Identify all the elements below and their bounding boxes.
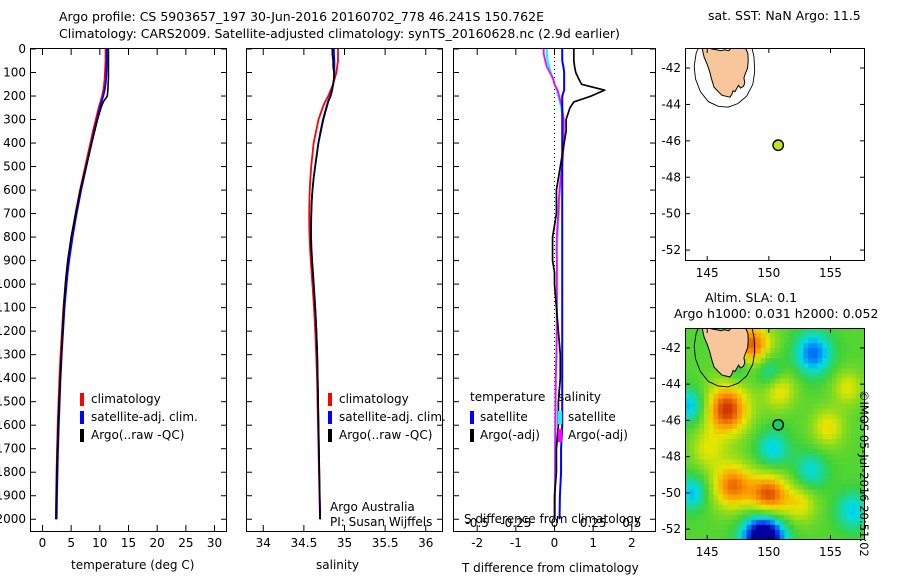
sla-cell — [756, 394, 761, 400]
sla-cell — [818, 490, 823, 496]
sla-cell — [813, 530, 818, 536]
tick-label: 20 — [150, 536, 165, 550]
sla-cell — [770, 474, 775, 480]
sla-cell — [780, 464, 785, 470]
sla-cell — [713, 520, 718, 526]
sla-cell — [713, 515, 718, 521]
sla-cell — [846, 484, 851, 490]
sla-cell — [770, 389, 775, 395]
sla-cell — [789, 515, 794, 521]
sla-cell — [770, 515, 775, 521]
sla-cell — [813, 333, 818, 339]
sla-cell — [841, 353, 846, 359]
sla-cell — [709, 464, 714, 470]
sla-cell — [827, 500, 832, 506]
sla-cell — [732, 373, 737, 379]
sla-cell — [846, 525, 851, 531]
sla-cell — [808, 363, 813, 369]
sla-cell — [723, 505, 728, 511]
sla-cell — [837, 338, 842, 344]
sla-cell — [704, 384, 709, 390]
sla-cell — [841, 469, 846, 475]
sla-cell — [784, 479, 789, 485]
sla-cell — [846, 389, 851, 395]
sla-cell — [713, 373, 718, 379]
sla-cell — [851, 490, 856, 496]
sla-cell — [846, 449, 851, 455]
sla-cell — [822, 439, 827, 445]
sla-cell — [841, 394, 846, 400]
sla-cell — [690, 525, 695, 531]
sla-cell — [775, 389, 780, 395]
sla-cell — [742, 520, 747, 526]
sla-cell — [694, 515, 699, 521]
sla-cell — [761, 479, 766, 485]
sla-cell — [856, 363, 861, 369]
sla-cell — [770, 333, 775, 339]
sla-cell — [846, 343, 851, 349]
sla-cell — [690, 515, 695, 521]
sla-cell — [789, 424, 794, 430]
sla-cell — [751, 479, 756, 485]
sla-cell — [808, 520, 813, 526]
profile-location-marker[interactable] — [773, 140, 783, 150]
sla-cell — [756, 454, 761, 460]
sla-cell — [761, 353, 766, 359]
sla-cell — [818, 368, 823, 374]
sla-cell — [837, 500, 842, 506]
legend-swatch-satellite-clim — [80, 411, 84, 424]
sla-cell — [827, 454, 832, 460]
sla-cell — [775, 368, 780, 374]
sla-cell — [775, 384, 780, 390]
sla-cell — [803, 358, 808, 364]
sla-cell — [699, 479, 704, 485]
sla-cell — [694, 459, 699, 465]
sla-cell — [694, 484, 699, 490]
sla-cell — [756, 424, 761, 430]
sla-cell — [751, 530, 756, 536]
sla-cell — [789, 429, 794, 435]
sla-cell — [766, 474, 771, 480]
sla-cell — [813, 409, 818, 415]
sla-cell — [837, 378, 842, 384]
sla-cell — [690, 404, 695, 410]
sla-cell — [780, 469, 785, 475]
sla-cell — [751, 373, 756, 379]
sla-cell — [732, 479, 737, 485]
sla-cell — [704, 520, 709, 526]
sla-cell — [794, 399, 799, 405]
sla-cell — [704, 434, 709, 440]
sla-cell — [822, 434, 827, 440]
sla-cell — [822, 505, 827, 511]
sla-cell — [784, 399, 789, 405]
sla-cell — [832, 459, 837, 465]
sla-cell — [789, 510, 794, 516]
sla-cell — [841, 373, 846, 379]
sla-cell — [799, 449, 804, 455]
sla-cell — [832, 353, 837, 359]
sla-cell — [756, 414, 761, 420]
sla-cell — [818, 495, 823, 501]
sla-cell — [851, 459, 856, 465]
sla-cell — [751, 454, 756, 460]
sla-cell — [766, 434, 771, 440]
sla-cell — [766, 389, 771, 395]
sla-cell — [822, 399, 827, 405]
sla-cell — [747, 490, 752, 496]
sla-cell — [784, 469, 789, 475]
sla-cell — [784, 394, 789, 400]
sla-cell — [766, 343, 771, 349]
sla-cell — [761, 373, 766, 379]
sla-cell — [766, 520, 771, 526]
sla-cell — [832, 525, 837, 531]
sla-cell — [837, 389, 842, 395]
sla-cell — [808, 484, 813, 490]
tick-label: 25 — [178, 536, 193, 550]
sla-cell — [766, 484, 771, 490]
tick-label: 1300 — [0, 348, 26, 362]
sla-cell — [780, 495, 785, 501]
sla-cell — [694, 479, 699, 485]
sla-cell — [713, 490, 718, 496]
tick-label: 1200 — [0, 324, 26, 338]
sla-cell — [813, 353, 818, 359]
sla-cell — [699, 353, 704, 359]
sla-cell — [699, 414, 704, 420]
sla-cell — [690, 429, 695, 435]
sla-cell — [723, 389, 728, 395]
sla-cell — [723, 378, 728, 384]
sla-cell — [803, 394, 808, 400]
sla-cell — [690, 479, 695, 485]
sla-cell — [789, 399, 794, 405]
sla-cell — [704, 399, 709, 405]
sla-cell — [699, 389, 704, 395]
sla-cell — [747, 429, 752, 435]
sla-cell — [694, 343, 699, 349]
sla-cell — [784, 454, 789, 460]
sla-cell — [699, 399, 704, 405]
sla-cell — [846, 429, 851, 435]
sla-cell — [775, 479, 780, 485]
sla-cell — [766, 495, 771, 501]
sla-cell — [851, 525, 856, 531]
sla-cell — [832, 429, 837, 435]
sla-cell — [723, 464, 728, 470]
sla-cell — [737, 444, 742, 450]
sla-cell — [841, 404, 846, 410]
sla-cell — [694, 510, 699, 516]
sla-cell — [813, 384, 818, 390]
sla-cell — [699, 484, 704, 490]
sla-cell — [766, 409, 771, 415]
sla-cell — [803, 424, 808, 430]
sla-cell — [694, 394, 699, 400]
sla-cell — [761, 459, 766, 465]
sla-cell — [808, 368, 813, 374]
sla-cell — [723, 434, 728, 440]
sla-cell — [846, 378, 851, 384]
sst-map[interactable]: 145150155-42-44-46-48-50-52 — [660, 26, 900, 291]
sla-cell — [837, 358, 842, 364]
sla-cell — [737, 429, 742, 435]
sla-cell — [747, 520, 752, 526]
sla-cell — [732, 404, 737, 410]
legend-header-salinity: salinity — [558, 390, 646, 408]
sla-cell — [846, 505, 851, 511]
sla-cell — [818, 419, 823, 425]
sla-cell — [770, 378, 775, 384]
tick-label: 34 — [256, 536, 271, 550]
sla-cell — [704, 454, 709, 460]
sla-cell — [723, 469, 728, 475]
sla-cell — [799, 464, 804, 470]
sla-cell — [756, 520, 761, 526]
sla-cell — [761, 358, 766, 364]
sla-cell — [756, 353, 761, 359]
sla-cell — [808, 505, 813, 511]
sla-cell — [837, 515, 842, 521]
sla-cell — [832, 378, 837, 384]
sla-cell — [789, 419, 794, 425]
sla-cell — [770, 394, 775, 400]
sla-cell — [851, 474, 856, 480]
sla-cell — [837, 343, 842, 349]
legend-swatch-argo — [328, 429, 332, 442]
legend-header-temperature: temperature — [470, 390, 558, 408]
sla-cell — [808, 348, 813, 354]
sla-cell — [827, 343, 832, 349]
sla-cell — [837, 525, 842, 531]
sla-cell — [799, 434, 804, 440]
sla-cell — [846, 515, 851, 521]
sla-cell — [766, 510, 771, 516]
sla-cell — [709, 515, 714, 521]
sla-cell — [761, 520, 766, 526]
sla-cell — [837, 384, 842, 390]
sla-cell — [837, 439, 842, 445]
tick-label: 36 — [418, 536, 433, 550]
legend-swatch-satellite-temp — [470, 411, 474, 424]
sla-cell — [784, 500, 789, 506]
tick-label: 500 — [3, 160, 26, 174]
sla-cell — [780, 490, 785, 496]
sla-cell — [737, 515, 742, 521]
sla-cell — [851, 358, 856, 364]
sla-cell — [699, 515, 704, 521]
sla-cell — [756, 343, 761, 349]
sla-cell — [718, 409, 723, 415]
sla-cell — [832, 449, 837, 455]
sla-cell — [761, 525, 766, 531]
sla-cell — [780, 353, 785, 359]
sla-cell — [808, 353, 813, 359]
sla-cell — [856, 333, 861, 339]
sla-cell — [742, 434, 747, 440]
sla-cell — [728, 479, 733, 485]
sla-cell — [732, 505, 737, 511]
sla-cell — [728, 469, 733, 475]
sla-cell — [756, 490, 761, 496]
sla-cell — [837, 520, 842, 526]
sla-cell — [799, 490, 804, 496]
legend-label-argo: Argo(..raw -QC) — [91, 428, 184, 442]
sla-cell — [728, 495, 733, 501]
sla-cell — [784, 348, 789, 354]
sla-cell — [713, 434, 718, 440]
sla-cell — [784, 384, 789, 390]
sla-cell — [718, 474, 723, 480]
sla-cell — [827, 358, 832, 364]
sla-cell — [747, 414, 752, 420]
sla-cell — [737, 484, 742, 490]
sla-cell — [766, 469, 771, 475]
sla-cell — [766, 404, 771, 410]
sla-cell — [756, 515, 761, 521]
sla-cell — [794, 348, 799, 354]
sla-map-title-line1: Altim. SLA: 0.1 — [705, 290, 797, 305]
sla-cell — [818, 525, 823, 531]
sla-cell — [822, 358, 827, 364]
sla-cell — [818, 384, 823, 390]
tick-label: 800 — [3, 230, 26, 244]
sla-cell — [742, 515, 747, 521]
sla-cell — [718, 454, 723, 460]
sla-cell — [737, 505, 742, 511]
sla-cell — [799, 424, 804, 430]
sla-cell — [799, 368, 804, 374]
sla-cell — [699, 500, 704, 506]
sla-cell — [841, 454, 846, 460]
sla-cell — [756, 484, 761, 490]
sla-cell — [822, 378, 827, 384]
sla-cell — [718, 464, 723, 470]
sla-cell — [851, 419, 856, 425]
sla-cell — [846, 409, 851, 415]
salinity-axis-label: salinity — [316, 558, 359, 572]
sla-cell — [832, 479, 837, 485]
sla-cell — [784, 363, 789, 369]
sla-cell — [709, 389, 714, 395]
sla-cell — [808, 474, 813, 480]
sla-cell — [808, 419, 813, 425]
sla-cell — [690, 434, 695, 440]
sla-cell — [789, 333, 794, 339]
sla-cell — [775, 414, 780, 420]
sla-cell — [766, 525, 771, 531]
profile-location-marker[interactable] — [773, 420, 783, 430]
sla-cell — [761, 454, 766, 460]
sla-cell — [799, 419, 804, 425]
sla-cell — [713, 409, 718, 415]
sla-cell — [723, 525, 728, 531]
tick-label: 900 — [3, 254, 26, 268]
sla-cell — [827, 490, 832, 496]
sla-cell — [780, 454, 785, 460]
sla-cell — [808, 464, 813, 470]
profile-line — [57, 49, 107, 519]
sla-cell — [799, 479, 804, 485]
sla-cell — [756, 338, 761, 344]
sla-cell — [699, 505, 704, 511]
sla-cell — [747, 399, 752, 405]
sla-cell — [832, 530, 837, 536]
sla-cell — [690, 454, 695, 460]
sla-cell — [832, 409, 837, 415]
sla-cell — [761, 343, 766, 349]
sla-cell — [794, 454, 799, 460]
sla-cell — [851, 424, 856, 430]
sla-cell — [799, 444, 804, 450]
sla-cell — [808, 500, 813, 506]
sla-cell — [794, 530, 799, 536]
sla-cell — [851, 353, 856, 359]
sla-cell — [794, 484, 799, 490]
sla-cell — [699, 469, 704, 475]
sla-cell — [789, 444, 794, 450]
sla-cell — [832, 520, 837, 526]
legend-label-satellite-sal: satellite — [568, 410, 616, 424]
sla-cell — [818, 444, 823, 450]
sla-cell — [837, 368, 842, 374]
sla-cell — [751, 434, 756, 440]
sla-cell — [827, 368, 832, 374]
sla-cell — [728, 520, 733, 526]
sla-cell — [709, 530, 714, 536]
sla-cell — [737, 373, 742, 379]
sla-cell — [723, 495, 728, 501]
sla-cell — [837, 429, 842, 435]
sla-cell — [732, 500, 737, 506]
sla-cell — [794, 505, 799, 511]
sla-cell — [737, 419, 742, 425]
sla-cell — [822, 389, 827, 395]
sla-cell — [784, 525, 789, 531]
sla-cell — [856, 358, 861, 364]
sla-cell — [770, 348, 775, 354]
sla-cell — [789, 363, 794, 369]
sla-cell — [784, 464, 789, 470]
sla-cell — [827, 530, 832, 536]
sla-cell — [723, 444, 728, 450]
sla-cell — [766, 333, 771, 339]
sla-cell — [803, 343, 808, 349]
sla-cell — [832, 389, 837, 395]
sla-cell — [803, 368, 808, 374]
sla-cell — [780, 368, 785, 374]
sla-cell — [699, 454, 704, 460]
sla-cell — [803, 384, 808, 390]
sla-cell — [808, 414, 813, 420]
sla-cell — [690, 484, 695, 490]
sla-cell — [841, 419, 846, 425]
sla-cell — [732, 394, 737, 400]
sla-cell — [799, 358, 804, 364]
sla-cell — [851, 368, 856, 374]
sla-cell — [827, 389, 832, 395]
sla-cell — [742, 454, 747, 460]
sla-cell — [799, 505, 804, 511]
sla-cell — [789, 373, 794, 379]
sla-cell — [742, 368, 747, 374]
sla-cell — [766, 490, 771, 496]
sla-cell — [822, 419, 827, 425]
difference-legend: temperature satellite Argo(-adj) salinit… — [470, 390, 646, 444]
sla-cell — [709, 459, 714, 465]
